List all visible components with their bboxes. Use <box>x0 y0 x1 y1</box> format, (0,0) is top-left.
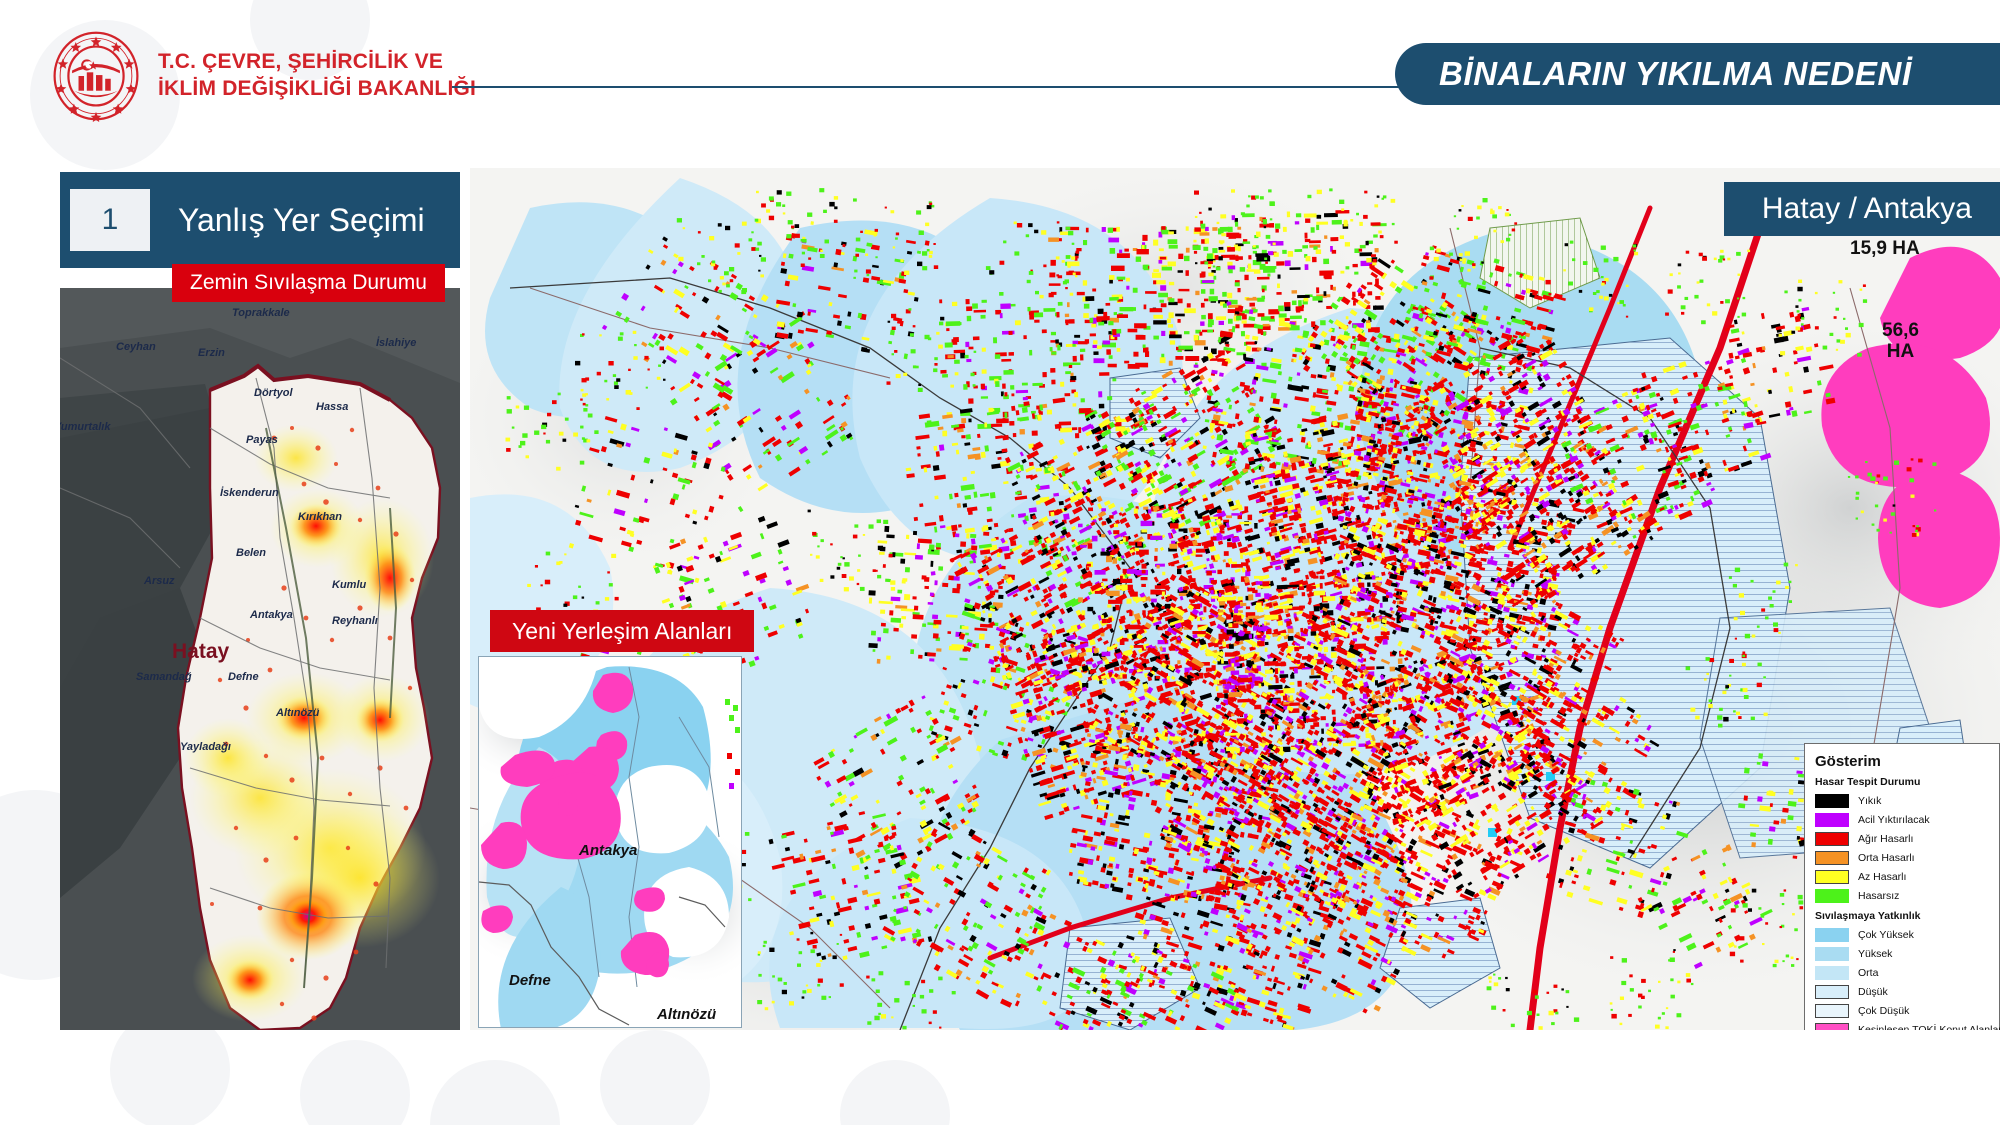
svg-text:Erzin: Erzin <box>198 347 225 359</box>
legend-swatch-icon <box>1815 985 1849 999</box>
svg-text:Payas: Payas <box>246 434 278 446</box>
legend-item-label: Çok Düşük <box>1858 1005 1909 1017</box>
cause-title: Yanlış Yer Seçimi <box>178 202 425 239</box>
map-legend: Gösterim Hasar Tespit DurumuYıkıkAcil Yı… <box>1804 743 2000 1030</box>
legend-item-label: Orta <box>1858 967 1878 979</box>
svg-text:Antakya: Antakya <box>249 609 293 621</box>
svg-text:Arsuz: Arsuz <box>143 575 175 587</box>
legend-item[interactable]: Acil Yıktırılacak <box>1815 810 1991 829</box>
svg-text:Hassa: Hassa <box>316 401 348 413</box>
legend-item-label: Ağır Hasarlı <box>1858 833 1913 845</box>
svg-text:Samandağ: Samandağ <box>136 671 192 683</box>
province-map-graphic: Ceyhan Toprakkale Erzin İslahiye Dörtyol… <box>60 288 460 1030</box>
legend-item-label: Orta Hasarlı <box>1858 852 1915 864</box>
legend-item[interactable]: Az Hasarlı <box>1815 867 1991 886</box>
svg-text:Yumurtalık: Yumurtalık <box>60 421 111 433</box>
svg-text:İskenderun: İskenderun <box>220 486 279 499</box>
ha-note-56-6: 56,6 HA <box>1882 320 1919 363</box>
legend-swatch-icon <box>1815 870 1849 884</box>
legend-item[interactable]: Düşük <box>1815 982 1991 1001</box>
legend-item[interactable]: Çok Yüksek <box>1815 925 1991 944</box>
legend-swatch-icon <box>1815 794 1849 808</box>
legend-item[interactable]: Orta Hasarlı <box>1815 848 1991 867</box>
legend-swatch-icon <box>1815 947 1849 961</box>
legend-item-label: Acil Yıktırılacak <box>1858 814 1930 826</box>
page-title: BİNALARIN YIKILMA NEDENİ <box>1439 55 1912 93</box>
legend-item-label: Düşük <box>1858 986 1888 998</box>
legend-group-title: Sıvılaşmaya Yatkınlık <box>1815 910 1991 922</box>
legend-item[interactable]: Hasarsız <box>1815 886 1991 905</box>
legend-swatch-icon <box>1815 889 1849 903</box>
legend-swatch-icon <box>1815 1023 1849 1031</box>
svg-text:Toprakkale: Toprakkale <box>232 307 290 319</box>
svg-text:Ceyhan: Ceyhan <box>116 341 156 353</box>
inset-map[interactable]: Antakya Defne Altınözü <box>478 656 742 1028</box>
legend-item[interactable]: Yüksek <box>1815 944 1991 963</box>
inset-chip-label: Yeni Yerleşim Alanları <box>512 618 732 645</box>
legend-item-label: Yüksek <box>1858 948 1892 960</box>
header-divider <box>452 86 1452 88</box>
cause-number-badge: 1 <box>70 189 150 251</box>
legend-title: Gösterim <box>1815 753 1991 770</box>
legend-item[interactable]: Yıkık <box>1815 791 1991 810</box>
legend-item-label: Kesinleşen TOKİ Konut Alanları <box>1858 1024 2000 1031</box>
legend-group-title: Hasar Tespit Durumu <box>1815 776 1991 788</box>
cause-sublabel: Zemin Sıvılaşma Durumu <box>190 271 427 295</box>
svg-text:İslahiye: İslahiye <box>376 336 416 349</box>
svg-text:Reyhanlı: Reyhanlı <box>332 615 378 627</box>
legend-swatch-icon <box>1815 928 1849 942</box>
ministry-seal-icon <box>50 30 142 122</box>
legend-swatch-icon <box>1815 966 1849 980</box>
legend-item[interactable]: Orta <box>1815 963 1991 982</box>
page-title-banner: BİNALARIN YIKILMA NEDENİ <box>1395 43 2000 105</box>
legend-item[interactable]: Ağır Hasarlı <box>1815 829 1991 848</box>
legend-item-label: Yıkık <box>1858 795 1881 807</box>
legend-item-label: Az Hasarlı <box>1858 871 1906 883</box>
legend-item[interactable]: Çok Düşük <box>1815 1001 1991 1020</box>
inset-chip: Yeni Yerleşim Alanları <box>490 610 754 652</box>
ministry-name: T.C. ÇEVRE, ŞEHİRCİLİK VE İKLİM DEĞİŞİKL… <box>158 49 476 103</box>
map-title-text: Hatay / Antakya <box>1762 192 1972 226</box>
svg-text:Yayladağı: Yayladağı <box>180 741 231 753</box>
legend-item-label: Hasarsız <box>1858 890 1899 902</box>
legend-item[interactable]: Kesinleşen TOKİ Konut Alanları <box>1815 1020 1991 1030</box>
new-settlement-inset[interactable]: Yeni Yerleşim Alanları <box>470 610 746 1030</box>
legend-swatch-icon <box>1815 851 1849 865</box>
svg-text:Defne: Defne <box>228 671 259 683</box>
svg-text:Kumlu: Kumlu <box>332 579 367 591</box>
inset-map-graphic: Antakya Defne Altınözü <box>479 657 742 1028</box>
svg-text:Belen: Belen <box>236 547 266 559</box>
svg-text:Altınözü: Altınözü <box>275 707 320 719</box>
svg-text:Dörtyol: Dörtyol <box>254 387 293 399</box>
cause-sublabel-chip: Zemin Sıvılaşma Durumu <box>172 264 445 302</box>
page-header: T.C. ÇEVRE, ŞEHİRCİLİK VE İKLİM DEĞİŞİKL… <box>0 0 2000 152</box>
ha-note-15-9: 15,9 HA <box>1850 238 1920 259</box>
legend-swatch-icon <box>1815 1004 1849 1018</box>
legend-item-label: Çok Yüksek <box>1858 929 1914 941</box>
cause-bar: 1 Yanlış Yer Seçimi <box>60 172 460 268</box>
ministry-logo: T.C. ÇEVRE, ŞEHİRCİLİK VE İKLİM DEĞİŞİKL… <box>50 30 476 122</box>
svg-text:Hatay: Hatay <box>172 640 230 663</box>
map-title-chip: Hatay / Antakya <box>1724 182 2000 236</box>
legend-swatch-icon <box>1815 832 1849 846</box>
cause-panel: 1 Yanlış Yer Seçimi Zemin Sıvılaşma Duru… <box>60 172 460 268</box>
svg-text:Kırıkhan: Kırıkhan <box>298 511 342 523</box>
hatay-province-map[interactable]: Ceyhan Toprakkale Erzin İslahiye Dörtyol… <box>60 288 460 1030</box>
legend-swatch-icon <box>1815 813 1849 827</box>
